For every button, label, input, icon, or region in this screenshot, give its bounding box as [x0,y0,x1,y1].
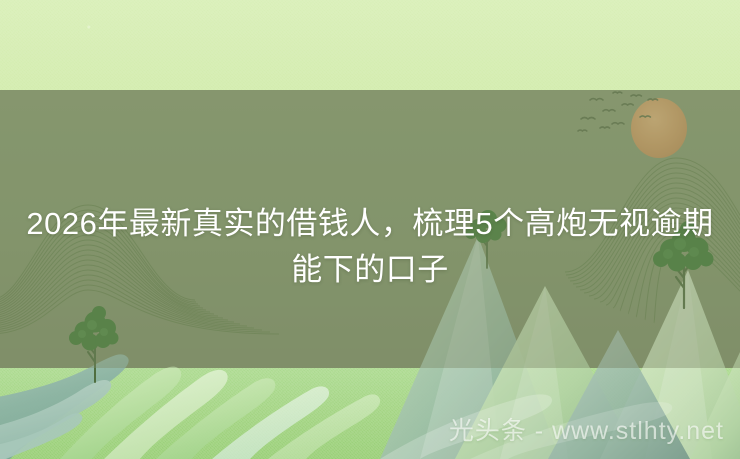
site-watermark: 光头条 - www.stlhty.net [449,411,724,447]
page-title: 2026年最新真实的借钱人，梳理5个高炮无视逾期能下的口子 [0,201,740,293]
tree-left [69,306,119,382]
article-cover-image: 2026年最新真实的借钱人，梳理5个高炮无视逾期能下的口子 光头条 - www.… [0,0,740,459]
